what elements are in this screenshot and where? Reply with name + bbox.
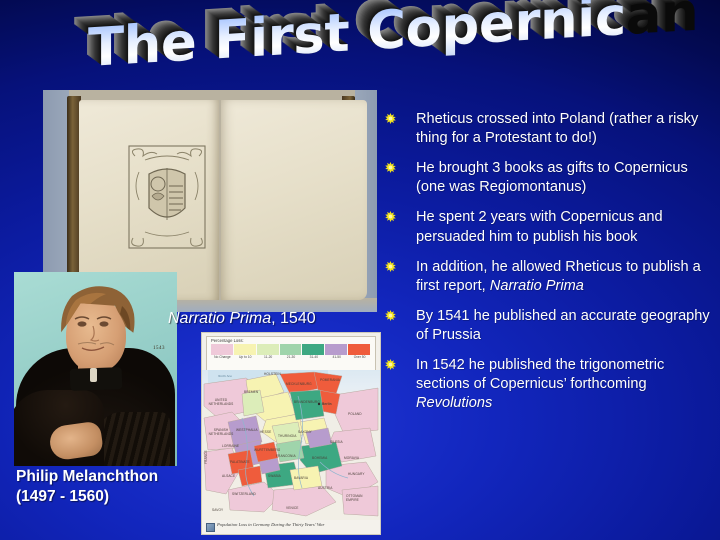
map-region-label: HESSE — [260, 430, 271, 434]
map-region-label: POLAND — [348, 412, 362, 416]
legend-label: 31-40 — [302, 356, 325, 368]
narratio-prima-caption: Narratio Prima, 1540 — [168, 310, 316, 328]
map-city-label: Berlin — [322, 402, 332, 406]
legend-swatch — [302, 344, 325, 355]
bullet-text-main: He brought 3 books as gifts to Copernicu… — [416, 160, 688, 195]
star-bullet-icon — [385, 310, 396, 321]
bullet-item: Rheticus crossed into Poland (rather a r… — [385, 110, 715, 148]
map-region-label: WESTPHALIA — [236, 428, 258, 432]
melanchthon-caption: Philip Melanchthon (1497 - 1560) — [16, 467, 158, 508]
bullet-text-main: Rheticus crossed into Poland (rather a r… — [416, 111, 698, 146]
map-region-label: AUSTRIA — [318, 486, 333, 490]
presentation-slide: The First Copernican The First Copernica… — [0, 0, 720, 540]
portrait-date-mark: 1543 — [153, 346, 165, 351]
melanchthon-dates: (1497 - 1560) — [16, 487, 158, 507]
legend-label: No Change — [211, 356, 234, 368]
bullet-item: He spent 2 years with Copernicus and per… — [385, 208, 715, 246]
map-region-label: BRANDENBURG — [294, 400, 320, 404]
legend-swatch — [348, 344, 371, 355]
legend-swatch — [325, 344, 348, 355]
map-region-label: POMERANIA — [320, 378, 340, 382]
melanchthon-name: Philip Melanchthon — [16, 467, 158, 487]
bullet-text-main: In 1542 he published the trigonometric s… — [416, 357, 664, 392]
bullet-item: By 1541 he published an accurate geograp… — [385, 307, 715, 345]
bullet-item: He brought 3 books as gifts to Copernicu… — [385, 159, 715, 197]
narratio-title: Narratio Prima — [168, 310, 271, 327]
thirty-years-war-map: Percentage Loss: No Change Up to 10 11-2… — [201, 332, 381, 535]
legend-swatch — [257, 344, 280, 355]
map-region-label: SPANISH NETHERLANDS — [208, 428, 234, 436]
map-region-label: WURTTEMBERG — [254, 448, 280, 452]
map-region-label: BOHEMIA — [312, 456, 327, 460]
slide-title: The First Copernican The First Copernica… — [88, 14, 628, 88]
map-caption-bar: Population Loss in Germany During the Th… — [202, 520, 380, 534]
star-bullet-icon — [385, 261, 396, 272]
narratio-year: , 1540 — [271, 310, 315, 327]
map-region-label: FRANCE — [204, 450, 208, 464]
portrait-facial-features — [66, 314, 128, 360]
map-region-label: THURINGIA — [278, 434, 296, 438]
map-caption: Population Loss in Germany During the Th… — [217, 522, 378, 529]
map-region-label: SILESIA — [330, 440, 343, 444]
bullet-item: In 1542 he published the trigonometric s… — [385, 356, 715, 413]
map-region-label: BREMEN — [244, 390, 258, 394]
legend-label: Up to 10 — [234, 356, 257, 368]
map-region-label: MORAVIA — [344, 456, 359, 460]
map-region-label: OTTOMAN EMPIRE — [346, 494, 368, 502]
portrait-collar-white — [90, 368, 97, 382]
map-region-label: FRANCONIA — [276, 454, 296, 458]
book-page-left — [79, 100, 219, 300]
bullet-list: Rheticus crossed into Poland (rather a r… — [385, 110, 715, 424]
bullet-text-italic: Narratio Prima — [490, 278, 584, 294]
map-region-label: HUNGARY — [348, 472, 365, 476]
map-region-label: BAVARIA — [294, 476, 308, 480]
map-legend: Percentage Loss: No Change Up to 10 11-2… — [206, 336, 376, 371]
star-bullet-icon — [385, 359, 396, 370]
map-region-label: PALATINATE — [230, 460, 250, 464]
bullet-text-main: By 1541 he published an accurate geograp… — [416, 308, 710, 343]
bullet-text: In 1542 he published the trigonometric s… — [405, 356, 715, 413]
legend-label: 21-30 — [280, 356, 303, 368]
map-region-label: HOLSTEIN — [264, 372, 281, 376]
map-region-label: MECKLENBURG — [286, 382, 312, 386]
bullet-item: In addition, he allowed Rheticus to publ… — [385, 258, 715, 296]
star-bullet-icon — [385, 211, 396, 222]
map-region-label: ALSACE — [222, 474, 235, 478]
portrait-sleeve-right — [96, 412, 170, 466]
bullet-text: By 1541 he published an accurate geograp… — [405, 307, 715, 345]
legend-swatch — [211, 344, 234, 355]
legend-swatch — [280, 344, 303, 355]
legend-label: Over 50 — [348, 356, 371, 368]
bullet-text: Rheticus crossed into Poland (rather a r… — [405, 110, 715, 148]
bullet-text: In addition, he allowed Rheticus to publ… — [405, 258, 715, 296]
bullet-text: He brought 3 books as gifts to Copernicu… — [405, 159, 715, 197]
map-region-label: UNITED NETHERLANDS — [208, 398, 234, 406]
star-bullet-icon — [385, 113, 396, 124]
map-region-label: VENICE — [286, 506, 298, 510]
book-page-right: AD CLARISSIMVM VIRVM D. IOANNEM SCHONE- … — [221, 100, 367, 300]
bullet-text-italic: Revolutions — [416, 395, 492, 411]
map-region-label: SWABIA — [268, 474, 281, 478]
star-bullet-icon — [385, 162, 396, 173]
legend-swatch — [234, 344, 257, 355]
map-legend-title: Percentage Loss: — [211, 338, 244, 343]
slide-title-face: The First Copernican — [88, 0, 628, 84]
map-body: North Sea — [202, 370, 380, 520]
map-legend-swatches — [211, 344, 371, 355]
map-region-label: LORRAINE — [222, 444, 239, 448]
map-region-label: SWITZERLAND — [232, 492, 256, 496]
map-region-label: SAVOY — [212, 508, 223, 512]
map-legend-labels: No Change Up to 10 11-20 21-30 31-40 41-… — [211, 356, 371, 368]
woodcut-coat-of-arms-icon — [125, 142, 209, 252]
map-region-label: SAXONY — [298, 430, 312, 434]
bullet-text: He spent 2 years with Copernicus and per… — [405, 208, 715, 246]
bullet-text-main: He spent 2 years with Copernicus and per… — [416, 209, 663, 244]
melanchthon-portrait: 1543 — [14, 272, 177, 466]
map-caption-icon — [206, 523, 215, 532]
legend-label: 11-20 — [257, 356, 280, 368]
legend-label: 41-50 — [325, 356, 348, 368]
